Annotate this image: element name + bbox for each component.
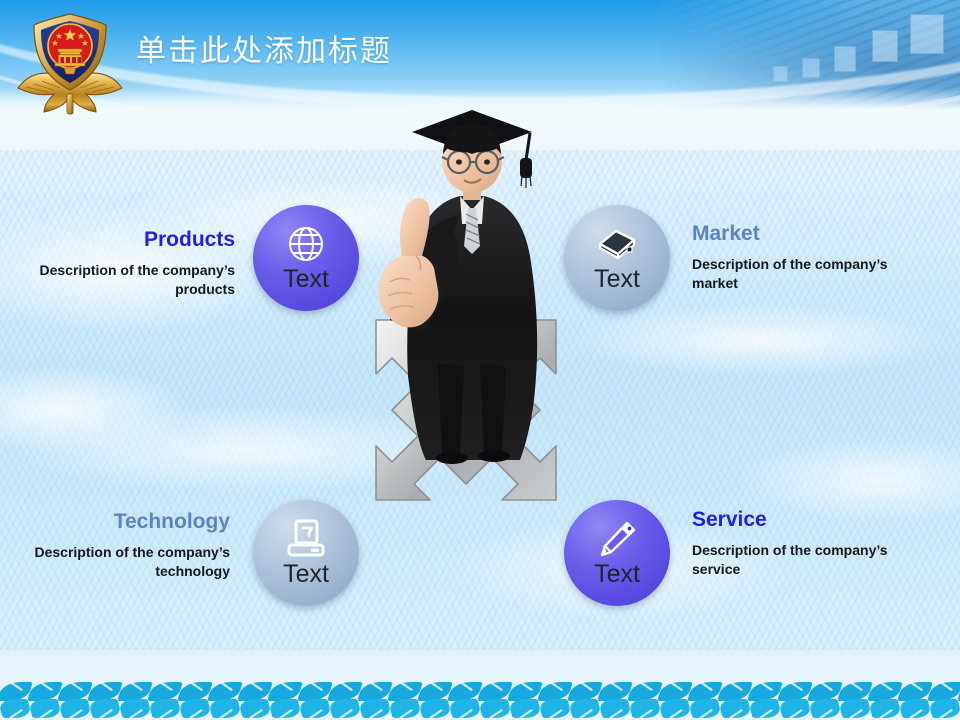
leaf-icon [117, 699, 152, 718]
label-products-description: Description of the company’s products [5, 261, 235, 299]
leaf-icon [447, 699, 482, 718]
leaf-icon [687, 699, 722, 718]
leaf-icon [777, 699, 812, 718]
leaf-icon [267, 699, 302, 718]
leaf-icon [657, 699, 692, 718]
leaf-icon [57, 699, 92, 718]
leaf-icon [597, 699, 632, 718]
graduate-boy-photo [364, 104, 580, 464]
label-service-description: Description of the company’s service [692, 541, 922, 579]
label-market-description: Description of the company’s market [692, 255, 922, 293]
label-market: Market Description of the company’s mark… [692, 222, 922, 293]
computer-icon [283, 517, 329, 561]
leaf-icon [837, 699, 872, 718]
china-police-emblem [14, 8, 126, 120]
label-market-heading: Market [692, 222, 922, 245]
label-technology-heading: Technology [0, 510, 230, 533]
label-products: Products Description of the company’s pr… [5, 228, 235, 299]
leaf-icon [357, 699, 392, 718]
pencil-icon [594, 517, 640, 561]
leaf-icon [867, 699, 902, 718]
leaf-icon [417, 699, 452, 718]
leaf-row-bottom [0, 699, 960, 719]
book-icon [594, 222, 640, 266]
label-technology-description: Description of the company’s technology [0, 543, 230, 581]
leaf-icon [747, 699, 782, 718]
leaf-icon [87, 699, 122, 718]
leaf-icon [927, 699, 960, 718]
leaf-icon [297, 699, 332, 718]
leaf-icon [27, 699, 62, 718]
node-service-text: Text [564, 560, 670, 589]
node-market[interactable]: Text [564, 205, 670, 311]
leaf-icon [177, 699, 212, 718]
leaf-icon [717, 699, 752, 718]
node-products-text: Text [253, 265, 359, 294]
leaf-icon [237, 699, 272, 718]
leaf-icon [627, 699, 662, 718]
node-technology[interactable]: Text [253, 500, 359, 606]
node-service[interactable]: Text [564, 500, 670, 606]
leaf-icon [207, 699, 242, 718]
globe-icon [283, 222, 329, 266]
slide-title: 单击此处添加标题 [136, 26, 392, 70]
leaf-icon [477, 699, 512, 718]
label-service-heading: Service [692, 508, 922, 531]
label-service: Service Description of the company’s ser… [692, 508, 922, 579]
label-technology: Technology Description of the company’s … [0, 510, 230, 581]
leaf-icon [147, 699, 182, 718]
node-market-text: Text [564, 265, 670, 294]
slide-canvas: 单击此处添加标题 [0, 0, 960, 720]
leaf-icon [0, 699, 33, 718]
leaf-icon [507, 699, 542, 718]
node-technology-text: Text [253, 560, 359, 589]
leaf-icon [567, 699, 602, 718]
leaf-icon [327, 699, 362, 718]
leaf-icon [897, 699, 932, 718]
node-products[interactable]: Text [253, 205, 359, 311]
label-products-heading: Products [5, 228, 235, 251]
leaf-icon [807, 699, 842, 718]
leaf-icon [537, 699, 572, 718]
leaf-icon [387, 699, 422, 718]
bottom-decorative-border [0, 680, 960, 720]
